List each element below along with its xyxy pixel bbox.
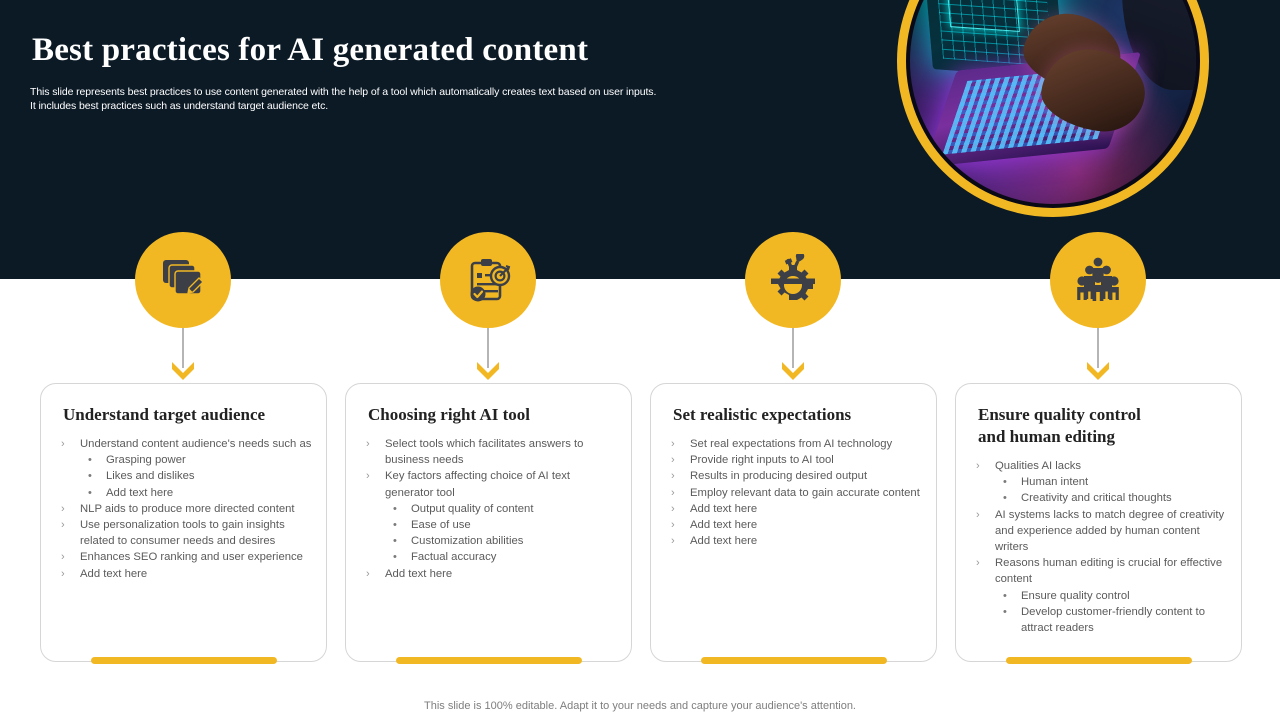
card-title-1-line-1: Understand target audience xyxy=(63,404,312,426)
sub-list-item-text: Likes and dislikes xyxy=(106,470,195,482)
chevron-bullet-icon: › xyxy=(976,507,980,523)
list-item: › Add text here xyxy=(669,501,926,517)
chevron-bullet-icon: › xyxy=(61,517,65,533)
sub-list-item-text: Develop customer-friendly content to att… xyxy=(1021,606,1205,634)
card-understand-target-audience[interactable]: Understand target audience › Understand … xyxy=(40,383,327,662)
card-title-2-line-1: Choosing right AI tool xyxy=(368,404,617,426)
sub-list-item: • Human intent xyxy=(995,474,1231,490)
chevron-bullet-icon: › xyxy=(366,566,370,582)
card-choosing-right-ai-tool[interactable]: Choosing right AI tool › Select tools wh… xyxy=(345,383,632,662)
card-title-1: Understand target audience xyxy=(63,404,312,426)
dot-bullet-icon: • xyxy=(1003,490,1007,506)
list-item: › Add text here xyxy=(364,566,621,582)
list-item-text: Reasons human editing is crucial for eff… xyxy=(995,557,1222,585)
sub-list-item-text: Creativity and critical thoughts xyxy=(1021,492,1172,504)
sub-list-item: • Ensure quality control xyxy=(995,588,1231,604)
dot-bullet-icon: • xyxy=(1003,474,1007,490)
sub-list-item-text: Factual accuracy xyxy=(411,551,496,563)
chevron-bullet-icon: › xyxy=(671,517,675,533)
list-item: › Reasons human editing is crucial for e… xyxy=(974,555,1231,636)
card-ensure-quality-control[interactable]: Ensure quality control and human editing… xyxy=(955,383,1242,662)
icon-circle-2[interactable] xyxy=(440,232,536,328)
chevron-bullet-icon: › xyxy=(671,436,675,452)
list-item: › NLP aids to produce more directed cont… xyxy=(59,501,316,517)
card-accent-bar-3 xyxy=(701,657,887,664)
sub-list-item: • Ease of use xyxy=(385,517,621,533)
slide-description-line-1: This slide represents best practices to … xyxy=(30,85,790,99)
dot-bullet-icon: • xyxy=(1003,604,1007,620)
list-item: › AI systems lacks to match degree of cr… xyxy=(974,507,1231,556)
list-item: › Results in producing desired output xyxy=(669,468,926,484)
chevron-bullet-icon: › xyxy=(671,533,675,549)
hero-photo-laptop-typing xyxy=(910,0,1196,204)
clipboard-target-icon xyxy=(462,254,514,306)
slide-description-line-2: It includes best practices such as under… xyxy=(30,99,790,113)
dot-bullet-icon: • xyxy=(88,468,92,484)
sub-list-item: • Factual accuracy xyxy=(385,549,621,565)
sub-list-item: • Likes and dislikes xyxy=(80,468,316,484)
dot-bullet-icon: • xyxy=(393,517,397,533)
card-set-realistic-expectations[interactable]: Set realistic expectations › Set real ex… xyxy=(650,383,937,662)
sub-list: • Ensure quality control • Develop custo… xyxy=(995,588,1231,637)
sub-list-item-text: Ease of use xyxy=(411,519,471,531)
card-title-2: Choosing right AI tool xyxy=(368,404,617,426)
chevron-bullet-icon: › xyxy=(671,485,675,501)
gear-tools-icon xyxy=(767,254,819,306)
list-item-text: Employ relevant data to gain accurate co… xyxy=(690,487,920,499)
list-item-text: Qualities AI lacks xyxy=(995,460,1081,472)
chevron-bullet-icon: › xyxy=(61,549,65,565)
card-list-1: › Understand content audience's needs su… xyxy=(59,436,316,582)
chevron-bullet-icon: › xyxy=(976,458,980,474)
list-item: › Set real expectations from AI technolo… xyxy=(669,436,926,452)
chevron-bullet-icon: › xyxy=(366,436,370,452)
sub-list-item-text: Customization abilities xyxy=(411,535,523,547)
card-accent-bar-4 xyxy=(1006,657,1192,664)
list-item-text: NLP aids to produce more directed conten… xyxy=(80,503,295,515)
chevron-bullet-icon: › xyxy=(976,555,980,571)
list-item-text: Add text here xyxy=(690,519,757,531)
chevron-bullet-icon: › xyxy=(671,501,675,517)
list-item-text: Add text here xyxy=(690,535,757,547)
page-title: Best practices for AI generated content xyxy=(32,32,588,69)
sub-list-item-text: Output quality of content xyxy=(411,503,533,515)
slide-description: This slide represents best practices to … xyxy=(30,85,790,113)
sub-list-item-text: Grasping power xyxy=(106,454,186,466)
list-item: › Employ relevant data to gain accurate … xyxy=(669,485,926,501)
dot-bullet-icon: • xyxy=(393,501,397,517)
sub-list-item: • Creativity and critical thoughts xyxy=(995,490,1231,506)
card-title-4: Ensure quality control and human editing xyxy=(978,404,1227,448)
sub-list-item-text: Ensure quality control xyxy=(1021,590,1130,602)
list-item-text: AI systems lacks to match degree of crea… xyxy=(995,509,1224,553)
card-accent-bar-2 xyxy=(396,657,582,664)
card-list-4: › Qualities AI lacks • Human intent • Cr… xyxy=(974,458,1231,636)
list-item: › Provide right inputs to AI tool xyxy=(669,452,926,468)
list-item-text: Add text here xyxy=(385,568,452,580)
sub-list-item: • Customization abilities xyxy=(385,533,621,549)
list-item-text: Add text here xyxy=(80,568,147,580)
icon-circle-4[interactable] xyxy=(1050,232,1146,328)
sub-list: • Output quality of content • Ease of us… xyxy=(385,501,621,566)
list-item-text: Add text here xyxy=(690,503,757,515)
list-item: › Enhances SEO ranking and user experien… xyxy=(59,549,316,565)
list-item-text: Key factors affecting choice of AI text … xyxy=(385,470,570,498)
people-group-icon xyxy=(1072,254,1124,306)
sub-list-item: • Output quality of content xyxy=(385,501,621,517)
dot-bullet-icon: • xyxy=(1003,588,1007,604)
icon-circle-3[interactable] xyxy=(745,232,841,328)
list-item-text: Enhances SEO ranking and user experience xyxy=(80,551,303,563)
dot-bullet-icon: • xyxy=(88,452,92,468)
dot-bullet-icon: • xyxy=(88,485,92,501)
chevron-bullet-icon: › xyxy=(671,468,675,484)
list-item: › Add text here xyxy=(669,517,926,533)
list-item-text: Select tools which facilitates answers t… xyxy=(385,438,583,466)
hero-image-clip xyxy=(910,0,1196,204)
footer-note: This slide is 100% editable. Adapt it to… xyxy=(0,700,1280,712)
list-item-text: Understand content audience's needs such… xyxy=(80,438,311,450)
list-item-text: Use personalization tools to gain insigh… xyxy=(80,519,285,547)
chevron-bullet-icon: › xyxy=(671,452,675,468)
chevron-bullet-icon: › xyxy=(61,566,65,582)
documents-pencil-icon xyxy=(157,254,209,306)
list-item: › Qualities AI lacks • Human intent • Cr… xyxy=(974,458,1231,507)
chevron-bullet-icon: › xyxy=(61,436,65,452)
dot-bullet-icon: • xyxy=(393,549,397,565)
card-accent-bar-1 xyxy=(91,657,277,664)
sub-list: • Human intent • Creativity and critical… xyxy=(995,474,1231,506)
sub-list-item: • Grasping power xyxy=(80,452,316,468)
sub-list: • Grasping power • Likes and dislikes • … xyxy=(80,452,316,501)
card-title-4-line-1: Ensure quality control xyxy=(978,404,1227,426)
sub-list-item: • Add text here xyxy=(80,485,316,501)
card-list-3: › Set real expectations from AI technolo… xyxy=(669,436,926,549)
list-item-text: Results in producing desired output xyxy=(690,470,867,482)
chevron-bullet-icon: › xyxy=(61,501,65,517)
list-item-text: Provide right inputs to AI tool xyxy=(690,454,834,466)
list-item: › Key factors affecting choice of AI tex… xyxy=(364,468,621,565)
list-item: › Select tools which facilitates answers… xyxy=(364,436,621,468)
sub-list-item-text: Add text here xyxy=(106,487,173,499)
list-item: › Understand content audience's needs su… xyxy=(59,436,316,501)
list-item: › Add text here xyxy=(669,533,926,549)
icon-circle-1[interactable] xyxy=(135,232,231,328)
sub-list-item-text: Human intent xyxy=(1021,476,1088,488)
hero-image-circle xyxy=(897,0,1209,217)
list-item-text: Set real expectations from AI technology xyxy=(690,438,892,450)
card-list-2: › Select tools which facilitates answers… xyxy=(364,436,621,582)
list-item: › Use personalization tools to gain insi… xyxy=(59,517,316,549)
sub-list-item: • Develop customer-friendly content to a… xyxy=(995,604,1231,636)
chevron-bullet-icon: › xyxy=(366,468,370,484)
card-title-3-line-1: Set realistic expectations xyxy=(673,404,922,426)
list-item: › Add text here xyxy=(59,566,316,582)
card-title-4-line-2: and human editing xyxy=(978,426,1227,448)
card-title-3: Set realistic expectations xyxy=(673,404,922,426)
dot-bullet-icon: • xyxy=(393,533,397,549)
